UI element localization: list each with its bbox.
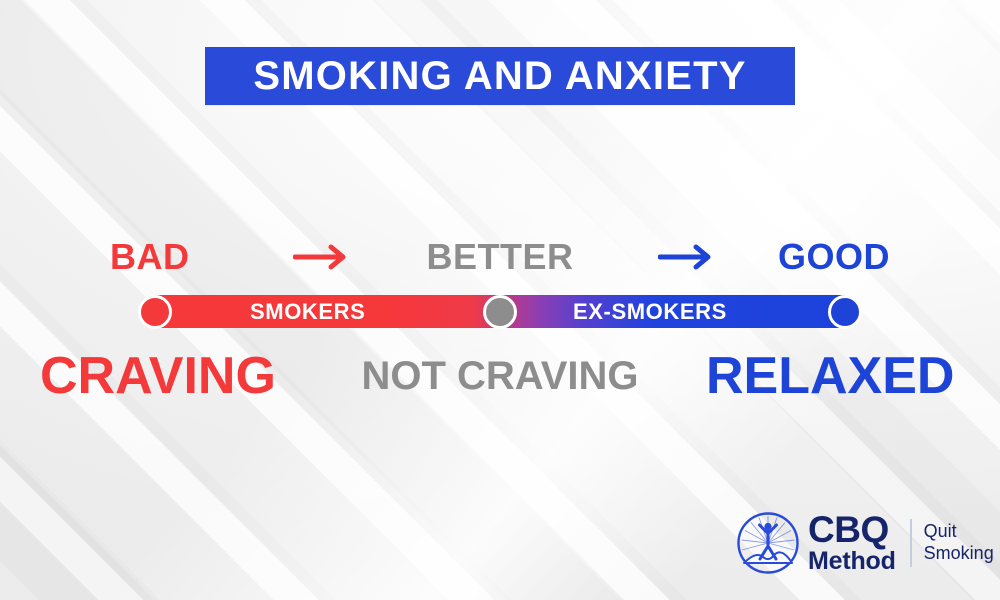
progress-stage-row: BAD BETTER GOOD	[0, 232, 1000, 282]
page-title: SMOKING AND ANXIETY	[253, 56, 746, 96]
stage-label-good: GOOD	[778, 232, 890, 282]
cbq-person-mountain-circle-icon	[736, 511, 800, 575]
state-label-not-craving: NOT CRAVING	[361, 348, 638, 404]
stage-label-bad: BAD	[110, 232, 190, 282]
cbq-method-logo[interactable]: CBQ Method Quit Smoking	[736, 507, 986, 579]
arrow-right-red-icon	[293, 244, 351, 270]
logo-brand-method: Method	[808, 550, 896, 573]
state-label-relaxed: RELAXED	[706, 348, 954, 404]
logo-tagline-line1: Quit	[924, 521, 994, 543]
arrow-right-blue-icon	[658, 244, 716, 270]
spectrum-label-ex-smokers: EX-SMOKERS	[573, 295, 727, 328]
spectrum-label-smokers: SMOKERS	[250, 295, 365, 328]
title-banner: SMOKING AND ANXIETY	[205, 47, 795, 105]
logo-divider	[910, 519, 912, 567]
logo-wordmark: CBQ Method	[808, 513, 896, 572]
state-label-craving: CRAVING	[40, 348, 276, 404]
logo-tagline-line2: Smoking	[924, 543, 994, 565]
feeling-state-row: CRAVING NOT CRAVING RELAXED	[0, 348, 1000, 404]
stage-label-better: BETTER	[427, 232, 574, 282]
spectrum-marker-end	[828, 295, 862, 329]
logo-brand-cbq: CBQ	[808, 513, 896, 547]
infographic-canvas: SMOKING AND ANXIETY BAD BETTER GOOD SMOK…	[0, 0, 1000, 600]
smoking-anxiety-spectrum-bar: SMOKERS EX-SMOKERS	[155, 295, 845, 328]
spectrum-marker-middle	[483, 295, 517, 329]
logo-tagline: Quit Smoking	[924, 521, 994, 565]
spectrum-marker-start	[138, 295, 172, 329]
